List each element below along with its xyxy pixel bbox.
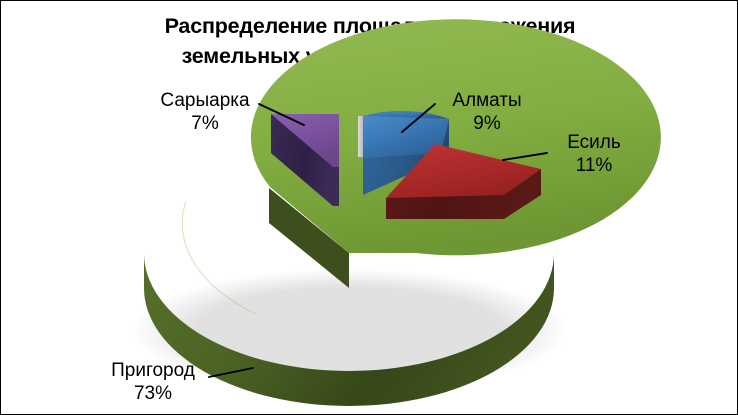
data-label-prigorod-value: 73%	[93, 382, 213, 405]
pie-chart-plot	[1, 1, 738, 415]
data-label-prigorod-name: Пригород	[93, 359, 213, 382]
chart-image-frame: Распределение площади предложения земель…	[0, 0, 738, 415]
data-label-almaty-value: 9%	[439, 112, 535, 135]
data-label-esil: Есиль 11%	[549, 131, 639, 177]
data-label-almaty-name: Алматы	[439, 89, 535, 112]
data-label-saryarka-value: 7%	[149, 112, 261, 135]
data-label-saryarka: Сарыарка 7%	[149, 89, 261, 135]
data-label-prigorod: Пригород 73%	[93, 359, 213, 405]
data-label-esil-value: 11%	[549, 154, 639, 177]
data-label-saryarka-name: Сарыарка	[149, 89, 261, 112]
data-label-esil-name: Есиль	[549, 131, 639, 154]
data-label-almaty: Алматы 9%	[439, 89, 535, 135]
